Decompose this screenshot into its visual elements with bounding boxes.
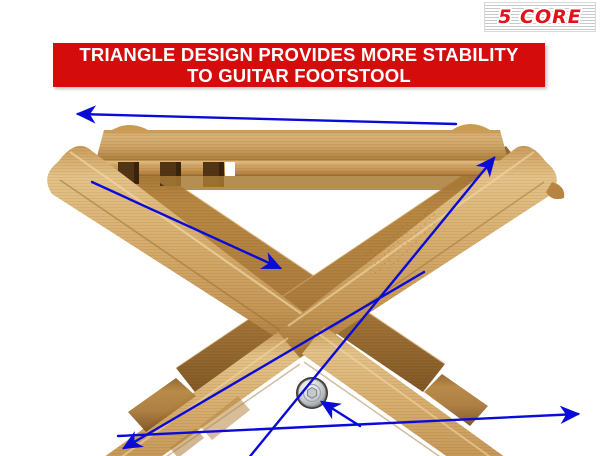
headline-line-2: TO GUITAR FOOTSTOOL xyxy=(187,65,411,86)
brand-logo: 5 CORE xyxy=(484,2,596,32)
arrow-top-horizontal-left xyxy=(78,114,456,124)
headline-text: TRIANGLE DESIGN PROVIDES MORE STABILITY … xyxy=(73,44,524,86)
product-marketing-image: 5 CORE TRIANGLE DESIGN PROVIDES MORE STA… xyxy=(0,0,600,456)
headline-banner: TRIANGLE DESIGN PROVIDES MORE STABILITY … xyxy=(53,43,545,87)
arrow-pivot-pointer xyxy=(322,402,360,426)
headline-line-1: TRIANGLE DESIGN PROVIDES MORE STABILITY xyxy=(79,44,518,65)
product-illustration: Bamboo guitar footstool in folded X-fram… xyxy=(0,96,600,456)
top-platform xyxy=(96,124,508,190)
brand-name: 5 CORE xyxy=(484,2,596,32)
